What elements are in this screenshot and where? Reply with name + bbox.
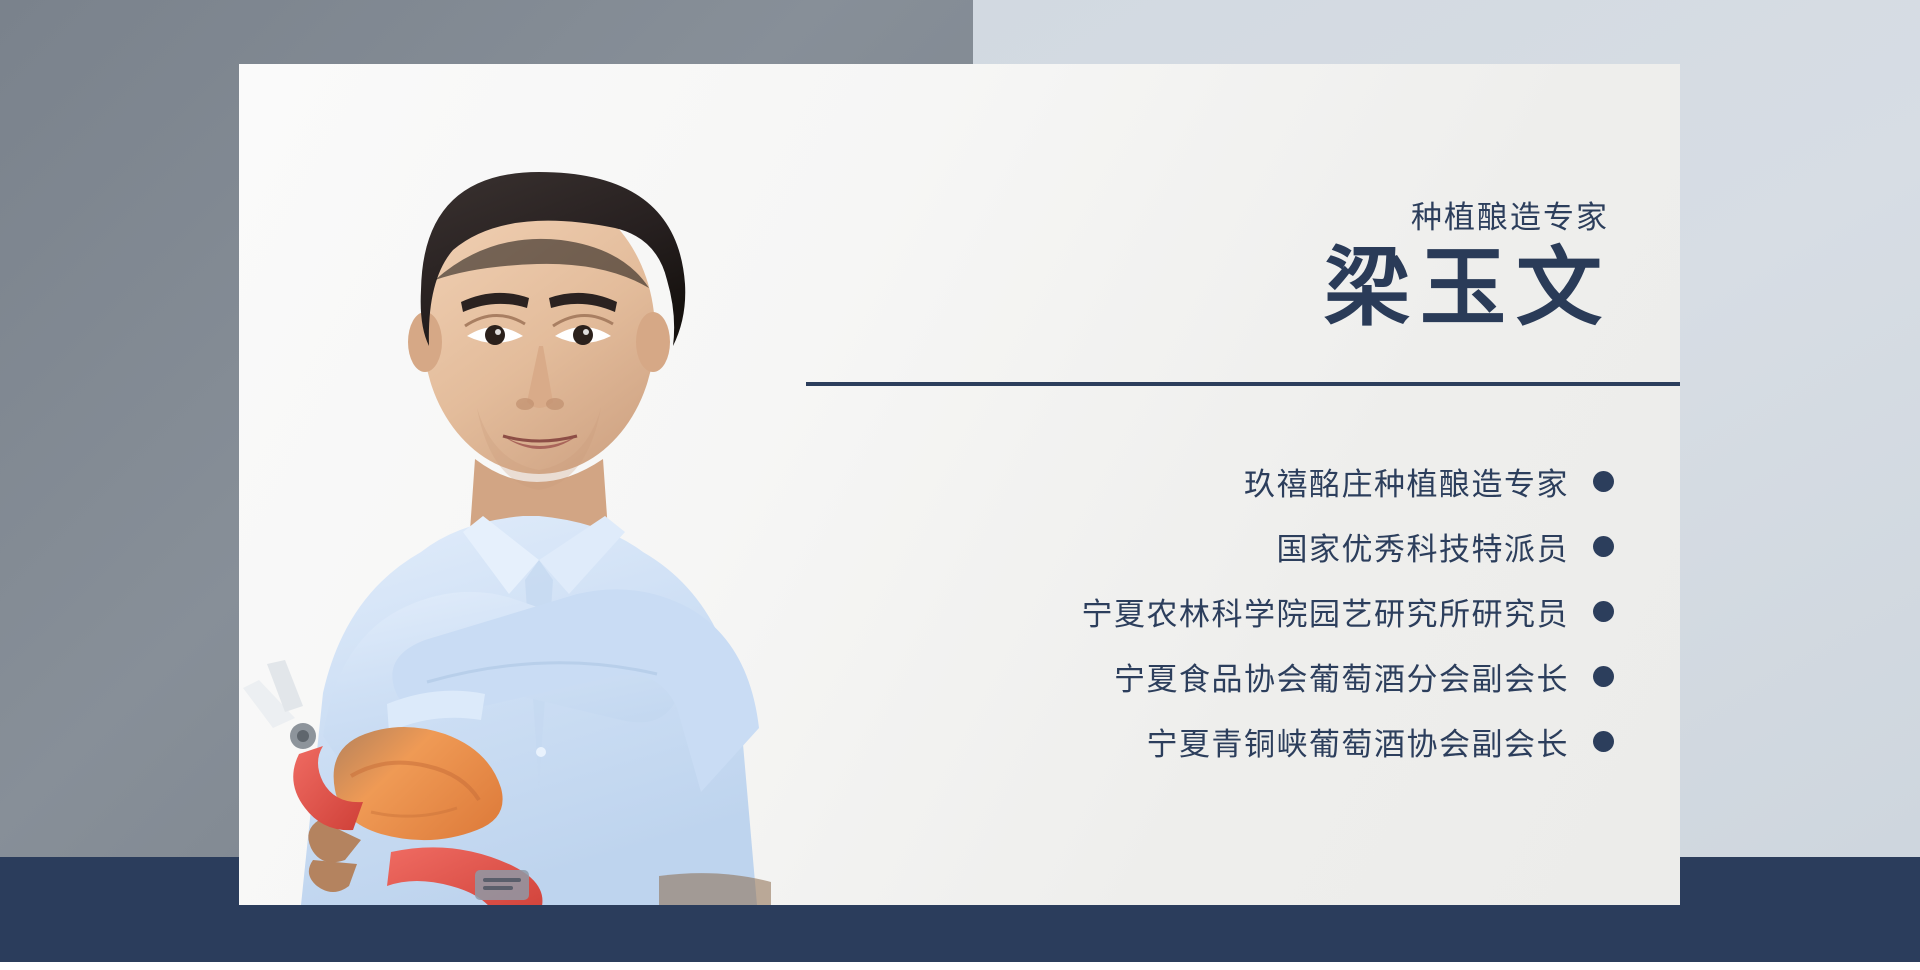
bullet-dot-icon — [1593, 666, 1614, 687]
person-name: 梁玉文 — [1314, 242, 1612, 335]
expert-portrait — [239, 64, 839, 905]
bullet-dot-icon — [1593, 601, 1614, 622]
profile-content: 种植酿造专家 梁玉文 玖禧酩庄种植酿造专家 国家优秀科技特派员 宁夏农林科学院园… — [799, 64, 1680, 905]
credential-text: 宁夏青铜峡葡萄酒协会副会长 — [1147, 719, 1570, 764]
bullet-dot-icon — [1593, 536, 1614, 557]
credential-text: 宁夏食品协会葡萄酒分会副会长 — [1114, 654, 1569, 699]
list-item: 宁夏青铜峡葡萄酒协会副会长 — [1082, 714, 1615, 768]
expert-profile-banner: 种植酿造专家 梁玉文 玖禧酩庄种植酿造专家 国家优秀科技特派员 宁夏农林科学院园… — [0, 0, 1920, 970]
bullet-dot-icon — [1593, 471, 1614, 492]
horizontal-divider — [806, 382, 1680, 386]
profile-card: 种植酿造专家 梁玉文 玖禧酩庄种植酿造专家 国家优秀科技特派员 宁夏农林科学院园… — [239, 64, 1680, 905]
credential-text: 国家优秀科技特派员 — [1277, 524, 1570, 569]
role-title: 种植酿造专家 — [1411, 192, 1609, 237]
list-item: 宁夏食品协会葡萄酒分会副会长 — [1082, 649, 1615, 703]
bullet-dot-icon — [1593, 731, 1614, 752]
background-bottom-white-strip — [0, 962, 1920, 970]
list-item: 国家优秀科技特派员 — [1082, 519, 1615, 573]
credential-text: 玖禧酩庄种植酿造专家 — [1244, 459, 1569, 504]
credential-text: 宁夏农林科学院园艺研究所研究员 — [1082, 589, 1570, 634]
credentials-list: 玖禧酩庄种植酿造专家 国家优秀科技特派员 宁夏农林科学院园艺研究所研究员 宁夏食… — [1082, 454, 1615, 779]
list-item: 玖禧酩庄种植酿造专家 — [1082, 454, 1615, 508]
list-item: 宁夏农林科学院园艺研究所研究员 — [1082, 584, 1615, 638]
